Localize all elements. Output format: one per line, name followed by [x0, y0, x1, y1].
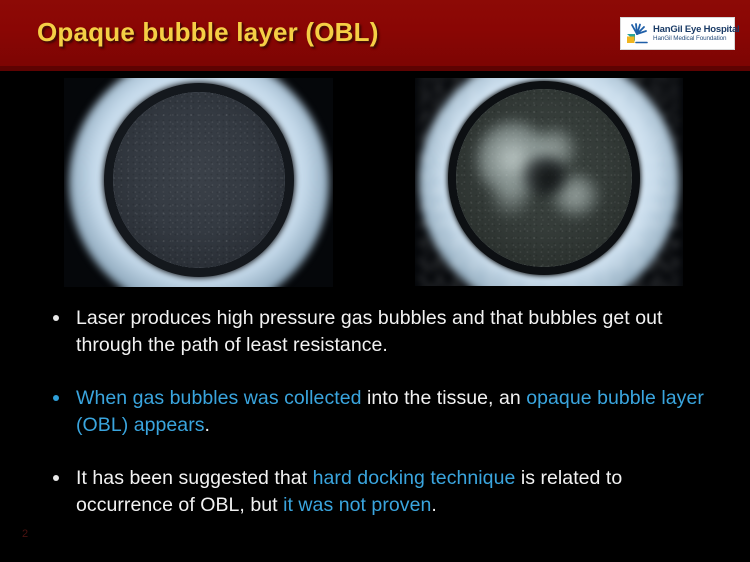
bullet-text: . [431, 494, 436, 516]
disc-texture [113, 92, 285, 268]
applanation-cone-disc [113, 92, 285, 268]
cornea-photo-obl [415, 78, 683, 286]
central-dark-zone [523, 156, 567, 196]
hangil-burst-icon [624, 21, 650, 47]
applanation-cone-disc [456, 89, 632, 267]
bullet-text: Laser produces high pressure gas bubbles… [76, 307, 663, 356]
bullet-list: Laser produces high pressure gas bubbles… [0, 305, 750, 519]
bullet-text: It has been suggested that [76, 467, 313, 489]
bullet-text-accent: it was not proven [283, 494, 431, 516]
logo-title: HanGil Eye Hospital [653, 25, 739, 35]
bullet-dot-icon [53, 475, 59, 481]
header-underline [0, 66, 750, 71]
bullet-text: . [205, 414, 210, 436]
logo-text-block: HanGil Eye Hospital HanGil Medical Found… [653, 25, 739, 43]
bullet-text-accent: When gas bubbles was collected [76, 387, 362, 409]
page-title: Opaque bubble layer (OBL) [37, 17, 379, 48]
cornea-photo-normal [64, 78, 333, 287]
bullet-dot-icon [53, 395, 59, 401]
hospital-logo: HanGil Eye Hospital HanGil Medical Found… [620, 17, 735, 50]
logo-subtitle: HanGil Medical Foundation [653, 36, 739, 43]
list-item: Laser produces high pressure gas bubbles… [0, 305, 750, 359]
bullet-text: into the tissue, an [362, 387, 527, 409]
list-item: When gas bubbles was collected into the … [0, 385, 750, 439]
list-item: It has been suggested that hard docking … [0, 465, 750, 519]
bullet-dot-icon [53, 315, 59, 321]
page-number: 2 [22, 528, 28, 540]
bullet-text-accent: hard docking technique [313, 467, 516, 489]
presentation-slide: Opaque bubble layer (OBL) HanGil Eye Hos… [0, 0, 750, 562]
